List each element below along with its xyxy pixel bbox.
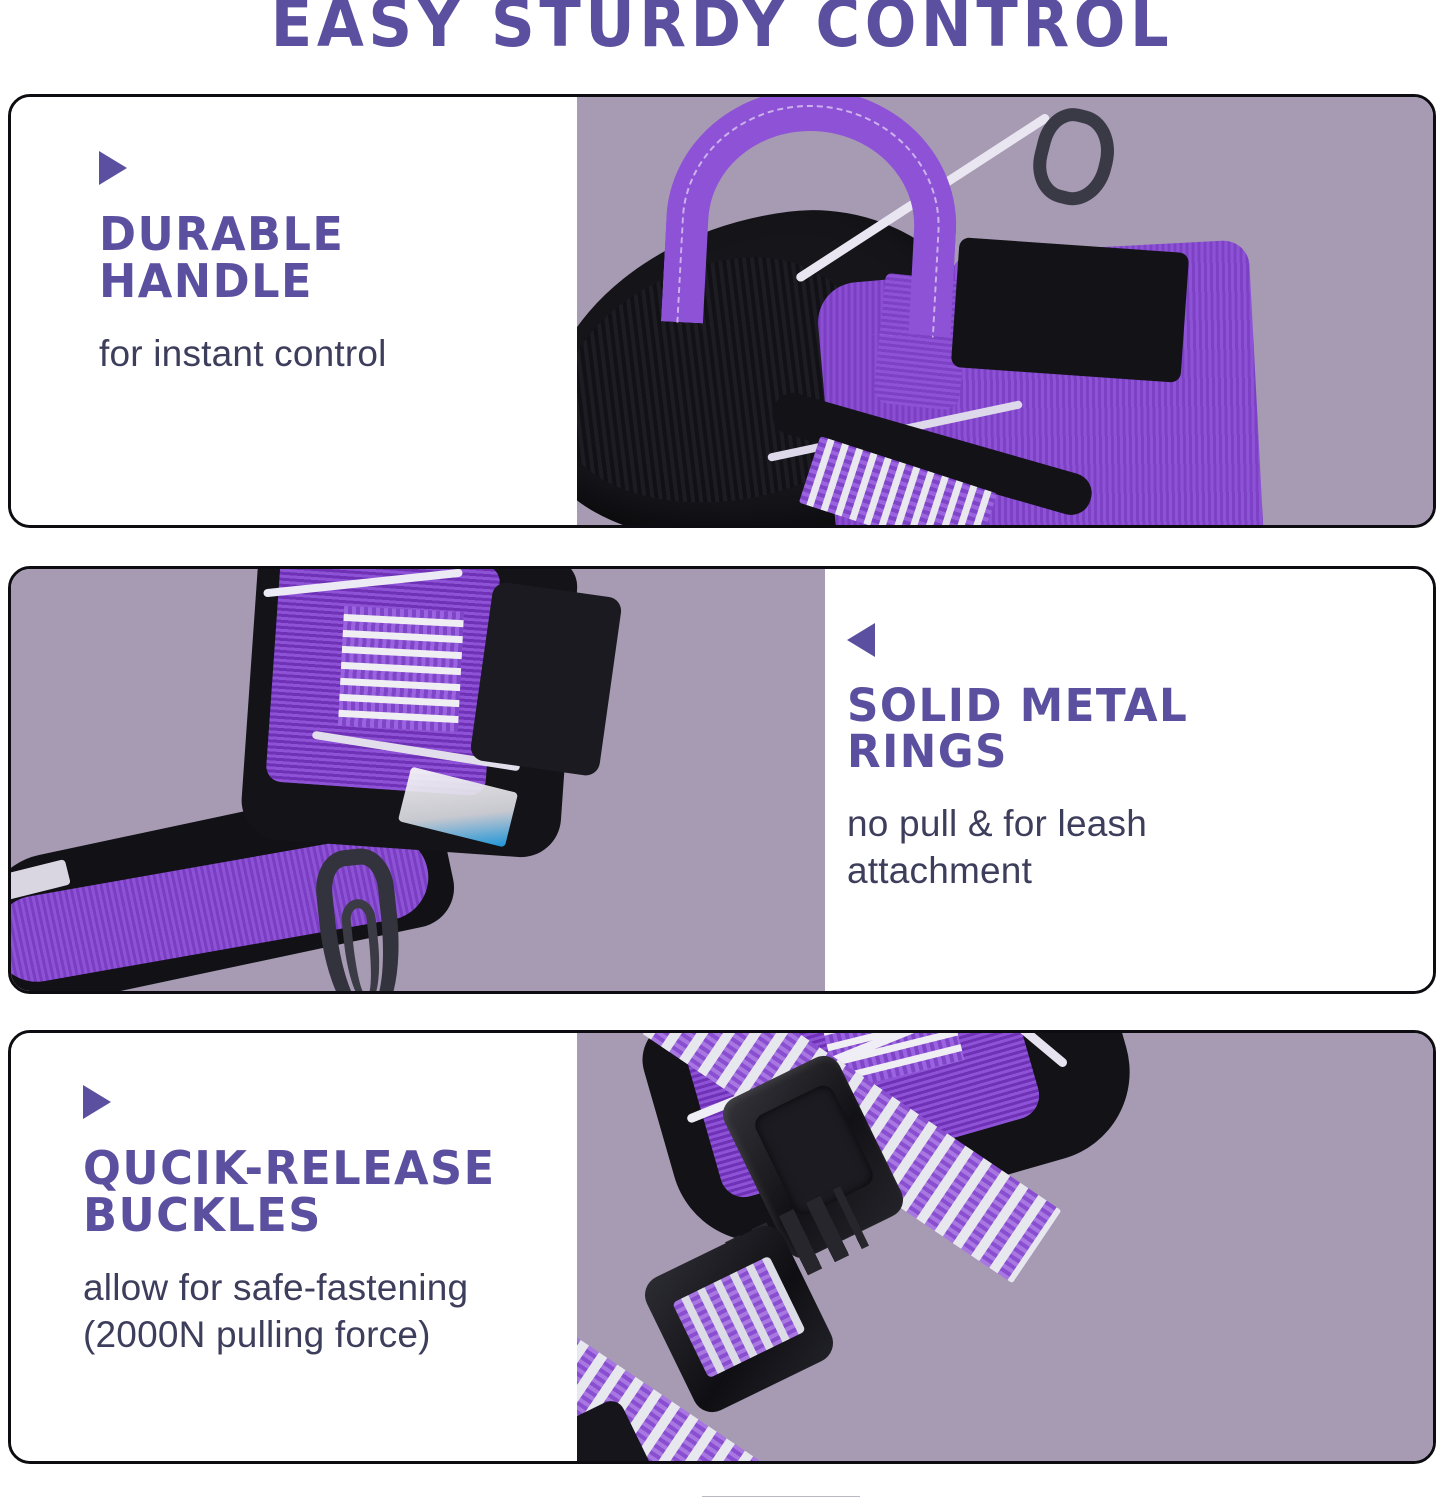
feature-heading: QUCIK-RELEASE BUCKLES bbox=[83, 1145, 562, 1240]
feature-subtitle: no pull & for leash attachment bbox=[847, 800, 1433, 895]
feature-heading: SOLID METAL RINGS bbox=[847, 683, 1415, 776]
page-title: EASY STURDY CONTROL bbox=[58, 0, 1386, 57]
feature-subtitle: for instant control bbox=[99, 330, 577, 377]
product-photo-quick-release-buckles bbox=[577, 1033, 1433, 1461]
triangle-left-icon bbox=[847, 623, 875, 657]
feature-text-block: DURABLE HANDLE for instant control bbox=[11, 97, 577, 525]
triangle-right-icon bbox=[99, 151, 127, 185]
feature-panel-quick-release-buckles: QUCIK-RELEASE BUCKLES allow for safe-fas… bbox=[8, 1030, 1436, 1464]
infographic-page: EASY STURDY CONTROL DURABLE HANDLE for i… bbox=[0, 0, 1444, 1500]
feature-panel-solid-metal-rings: SOLID METAL RINGS no pull & for leash at… bbox=[8, 566, 1436, 994]
product-photo-solid-metal-rings bbox=[11, 569, 825, 991]
feature-panel-durable-handle: DURABLE HANDLE for instant control bbox=[8, 94, 1436, 528]
feature-text-block: SOLID METAL RINGS no pull & for leash at… bbox=[825, 569, 1433, 991]
section-divider bbox=[702, 1496, 860, 1497]
harness-velcro-patch bbox=[469, 581, 623, 777]
harness-reflective-webbing bbox=[338, 606, 464, 732]
product-photo-durable-handle bbox=[577, 97, 1433, 525]
harness-velcro-patch bbox=[951, 237, 1190, 383]
feature-text-block: QUCIK-RELEASE BUCKLES allow for safe-fas… bbox=[11, 1033, 577, 1461]
feature-subtitle: allow for safe-fastening (2000N pulling … bbox=[83, 1264, 577, 1359]
feature-heading: DURABLE HANDLE bbox=[99, 211, 563, 306]
triangle-right-icon bbox=[83, 1085, 111, 1119]
